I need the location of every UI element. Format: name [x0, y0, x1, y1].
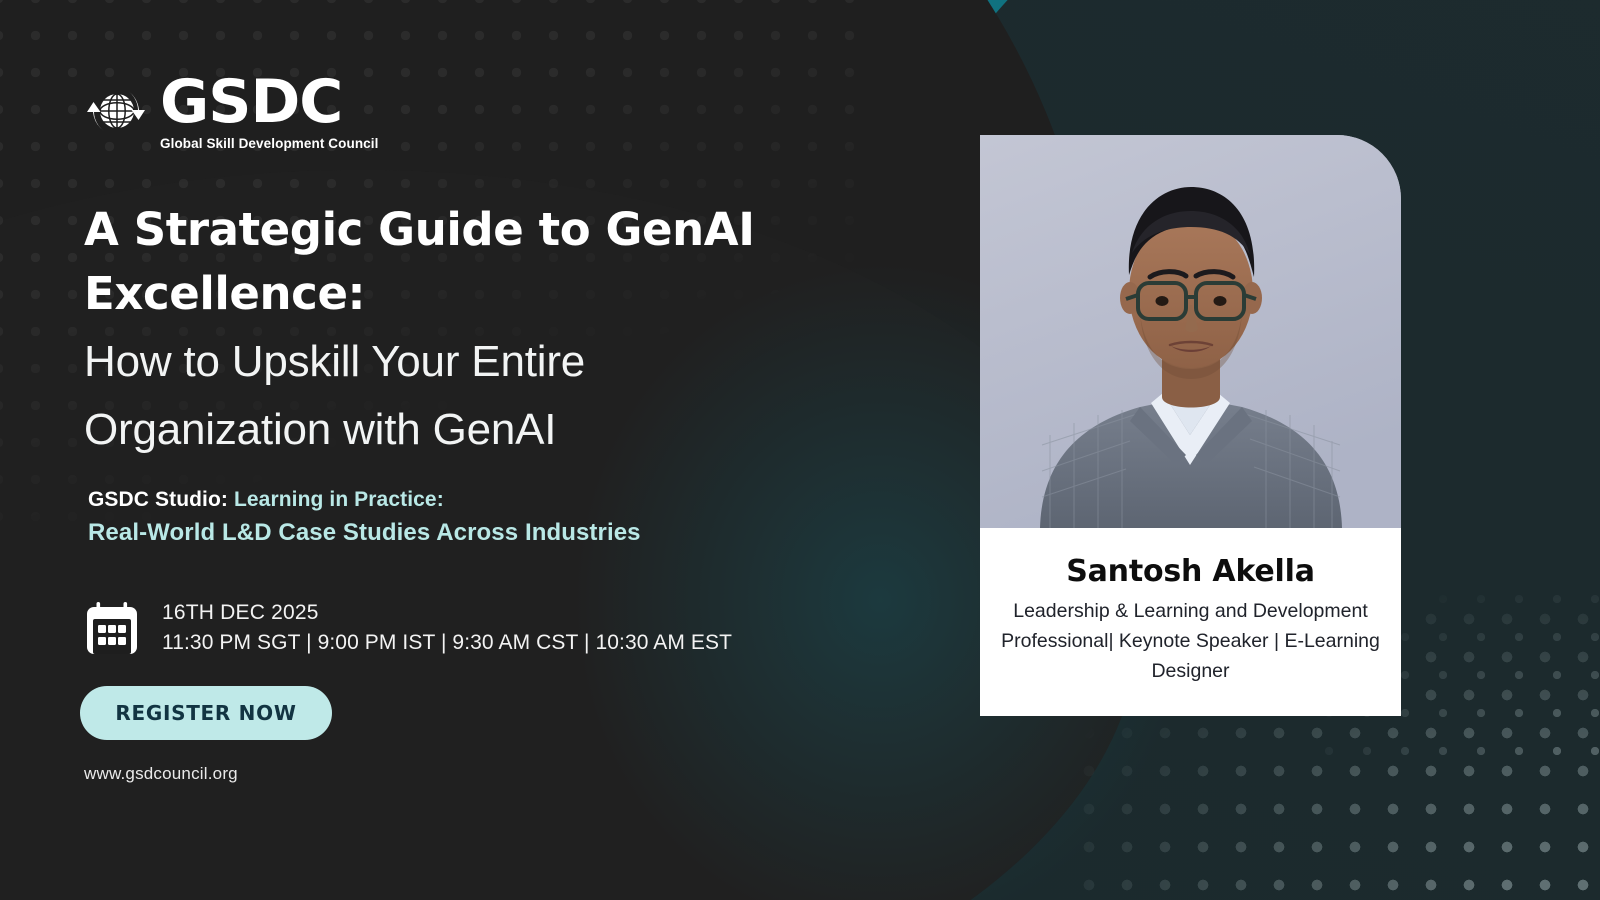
register-now-button[interactable]: REGISTER NOW	[80, 686, 332, 740]
speaker-photo	[980, 135, 1401, 528]
website-url[interactable]: www.gsdcouncil.org	[84, 764, 238, 784]
headline-line-4: Organization with GenAI	[84, 398, 874, 463]
calendar-icon	[84, 600, 140, 656]
headline-line-3: How to Upskill Your Entire	[84, 330, 874, 395]
speaker-role: Leadership & Learning and Development Pr…	[996, 597, 1385, 686]
page-title: A Strategic Guide to GenAI Excellence: H…	[84, 198, 874, 463]
studio-subtitle: GSDC Studio: Learning in Practice: Real-…	[88, 484, 928, 550]
headline-line-1: A Strategic Guide to GenAI	[84, 198, 874, 262]
event-timezones: 11:30 PM SGT | 9:00 PM IST | 9:30 AM CST…	[162, 631, 732, 655]
studio-prefix: GSDC Studio:	[88, 488, 228, 511]
globe-refresh-icon	[84, 79, 148, 143]
studio-subtitle-line-2: Real-World L&D Case Studies Across Indus…	[88, 516, 928, 551]
studio-subtitle-line-1: GSDC Studio: Learning in Practice:	[88, 484, 928, 516]
speaker-info: Santosh Akella Leadership & Learning and…	[980, 528, 1401, 716]
logo-tagline: Global Skill Development Council	[160, 137, 379, 151]
speaker-card: Santosh Akella Leadership & Learning and…	[980, 135, 1401, 716]
webinar-promo-banner: GSDC Global Skill Development Council A …	[0, 0, 1600, 900]
gsdc-logo: GSDC Global Skill Development Council	[84, 72, 379, 151]
schedule-block: 16TH DEC 2025 11:30 PM SGT | 9:00 PM IST…	[84, 600, 732, 656]
banner-content: GSDC Global Skill Development Council A …	[0, 0, 1600, 900]
headline-line-2: Excellence:	[84, 262, 874, 326]
logo-wordmark: GSDC	[160, 72, 379, 132]
event-date: 16TH DEC 2025	[162, 601, 732, 625]
speaker-name: Santosh Akella	[996, 554, 1385, 590]
register-now-label: REGISTER NOW	[115, 701, 296, 725]
speaker-role-line-1: Leadership & Learning and	[1013, 600, 1247, 622]
studio-highlight: Learning in Practice:	[234, 488, 444, 511]
